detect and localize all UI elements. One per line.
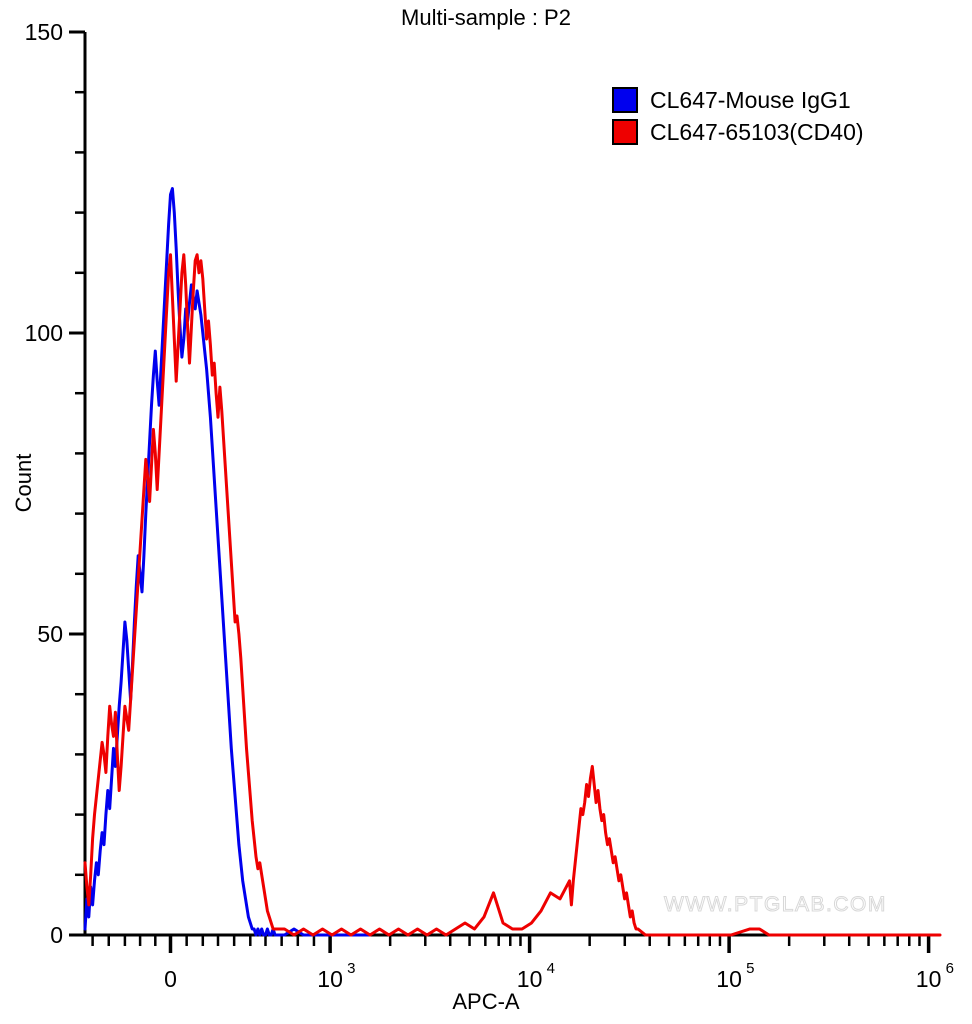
legend-label-isotype: CL647-Mouse IgG1 — [650, 87, 851, 113]
axes-group: 0501001500103104105106 — [25, 19, 954, 992]
legend: CL647-Mouse IgG1 CL647-65103(CD40) — [612, 86, 864, 146]
legend-swatch-isotype — [612, 87, 638, 113]
x-tick-label: 104 — [517, 960, 555, 992]
series-line-cd40 — [85, 255, 940, 935]
y-tick-label: 100 — [25, 320, 63, 346]
legend-label-cd40: CL647-65103(CD40) — [650, 119, 864, 145]
flow-cytometry-histogram: Multi-sample : P2 Count APC-A 0501001500… — [0, 0, 972, 1024]
x-tick-label: 105 — [716, 960, 754, 992]
x-axis-label: APC-A — [0, 989, 972, 1015]
x-tick-label: 106 — [916, 960, 954, 992]
svg-text:6: 6 — [946, 960, 954, 977]
y-tick-label: 50 — [37, 621, 63, 647]
legend-swatch-cd40 — [612, 119, 638, 145]
svg-text:3: 3 — [347, 960, 355, 977]
page-title: Multi-sample : P2 — [0, 5, 972, 31]
svg-text:4: 4 — [547, 960, 555, 977]
series-group — [85, 189, 940, 935]
svg-text:5: 5 — [746, 960, 754, 977]
y-axis-label: Count — [11, 423, 37, 543]
plot-canvas: 0501001500103104105106 — [0, 0, 972, 1024]
x-tick-label: 103 — [317, 960, 355, 992]
legend-item-cd40[interactable]: CL647-65103(CD40) — [612, 118, 864, 146]
legend-item-isotype[interactable]: CL647-Mouse IgG1 — [612, 86, 864, 114]
y-tick-label: 0 — [50, 922, 63, 948]
series-line-isotype — [85, 189, 370, 935]
